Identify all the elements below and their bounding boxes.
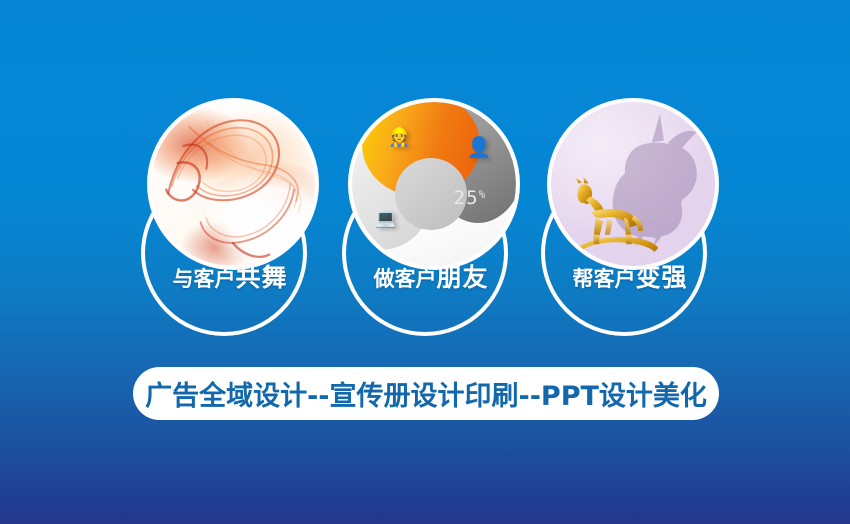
stat-sign: % — [479, 188, 487, 201]
card-caption-dance: 与客户共舞 — [135, 258, 325, 294]
stat-value: 25 — [454, 187, 479, 209]
caption-emphasis: 共舞 — [235, 264, 287, 292]
rocking-horse-unicorn-shadow-icon — [551, 102, 715, 266]
feature-card-stronger[interactable]: 帮客户变强 — [535, 90, 725, 340]
feature-card-dance[interactable]: 与客户共舞 — [135, 90, 325, 340]
card-image-circle — [147, 98, 319, 270]
caption-lead: 与客户 — [172, 268, 235, 291]
desk-worker-icon: 💻 — [375, 210, 396, 227]
golden-rocking-horse-icon — [567, 174, 662, 259]
banner-text: 广告全域设计--宣传册设计印刷--PPT设计美化 — [145, 374, 707, 413]
slide-canvas: 与客户共舞 👷 👤 💻 25% — [0, 0, 850, 524]
caption-lead: 帮客户 — [572, 268, 635, 291]
orange-smoke-art-icon — [151, 102, 315, 266]
stat-percentage: 25% — [454, 187, 487, 209]
worker-icon: 👷 — [388, 128, 410, 146]
card-caption-stronger: 帮客户变强 — [535, 258, 725, 294]
person-icon: 👤 — [467, 138, 492, 158]
caption-emphasis: 变强 — [635, 264, 687, 292]
card-caption-friend: 做客户朋友 — [336, 258, 526, 294]
bottom-banner[interactable]: 广告全域设计--宣传册设计印刷--PPT设计美化 — [133, 367, 719, 420]
caption-emphasis: 朋友 — [436, 264, 488, 292]
card-image-circle — [547, 98, 719, 270]
caption-lead: 做客户 — [373, 268, 436, 291]
card-image-circle: 👷 👤 💻 25% — [348, 98, 520, 270]
infographic-circles-icon: 👷 👤 💻 25% — [352, 102, 516, 266]
feature-card-friend[interactable]: 👷 👤 💻 25% 做客户朋友 — [336, 90, 526, 340]
feature-card-group: 与客户共舞 👷 👤 💻 25% — [0, 0, 850, 360]
